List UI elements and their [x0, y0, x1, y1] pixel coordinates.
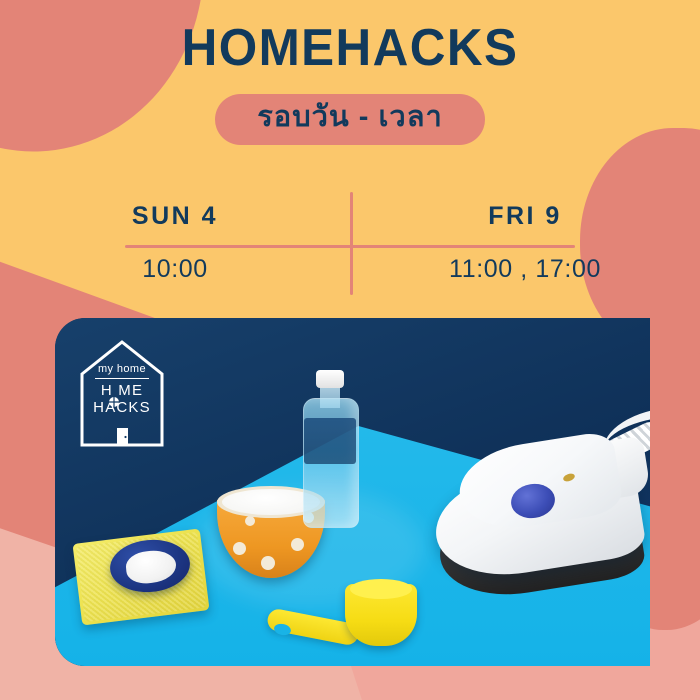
- bowl-dot: [245, 516, 255, 526]
- poster-header: HOMEHACKS รอบวัน - เวลา: [0, 0, 700, 145]
- bowl-dot: [291, 538, 304, 551]
- schedule-vertical-divider: [350, 192, 353, 295]
- bottle-label: [304, 418, 356, 464]
- logo-text-block: my home H ME HACKS: [79, 336, 165, 417]
- crosshair-o-icon: [109, 397, 119, 407]
- bowl-dot: [233, 542, 246, 555]
- page-title: HOMEHACKS: [18, 22, 683, 74]
- schedule-day-label: SUN 4: [132, 202, 218, 231]
- poster-canvas: HOMEHACKS รอบวัน - เวลา SUN 4 10:00 FRI …: [0, 0, 700, 700]
- logo-brand-line: my home: [79, 363, 165, 375]
- subtitle-pill-wrap: รอบวัน - เวลา: [0, 94, 700, 145]
- clothes-iron: [435, 408, 650, 598]
- scoop-cup: [345, 584, 417, 646]
- white-paste: [125, 549, 178, 585]
- photo-card: my home H ME HACKS: [55, 318, 650, 666]
- subtitle-pill: รอบวัน - เวลา: [215, 94, 485, 145]
- schedule-time-label: 10:00: [142, 255, 208, 284]
- bottle-cap: [316, 370, 344, 388]
- logo-home-text: H ME: [101, 382, 143, 399]
- water-bottle: [301, 370, 359, 526]
- logo-title-line-1: H ME: [79, 383, 165, 400]
- logo-rule: [95, 378, 149, 379]
- product-photo: my home H ME HACKS: [55, 318, 650, 666]
- logo-title-line-2: HACKS: [79, 400, 165, 417]
- schedule-time-label: 11:00 , 17:00: [449, 255, 601, 284]
- brand-logo: my home H ME HACKS: [79, 336, 165, 448]
- schedule-block: SUN 4 10:00 FRI 9 11:00 , 17:00: [0, 190, 700, 300]
- schedule-day-label: FRI 9: [488, 202, 562, 231]
- yellow-measuring-scoop: [267, 576, 417, 662]
- bowl-dot: [261, 556, 275, 570]
